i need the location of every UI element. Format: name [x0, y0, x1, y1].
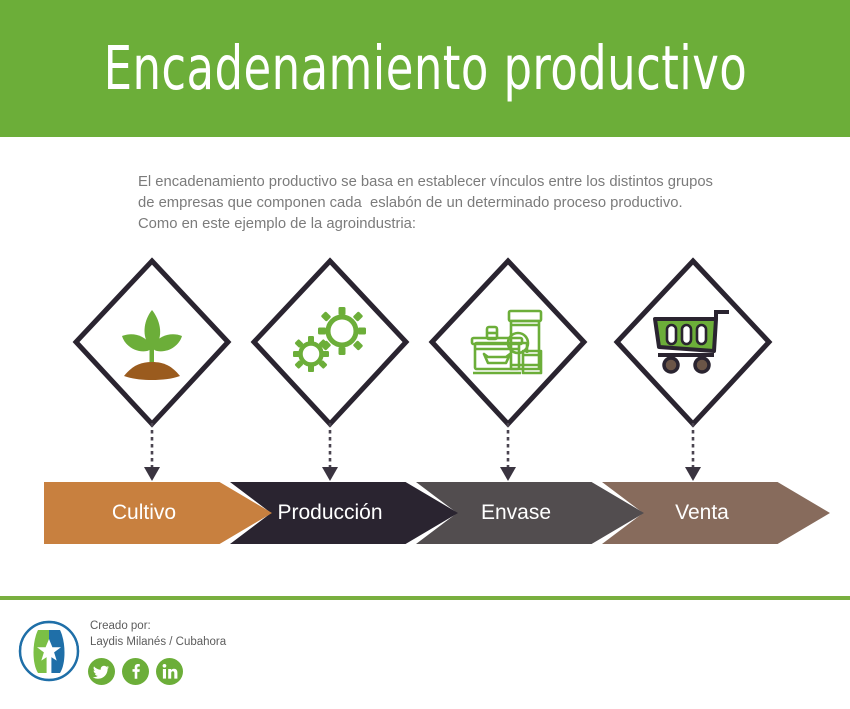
header-banner: Encadenamiento productivo [0, 0, 850, 137]
intro-paragraph: El encadenamiento productivo se basa en … [138, 172, 758, 235]
linkedin-icon[interactable] [156, 658, 183, 685]
credit-line-2: Laydis Milanés / Cubahora [90, 634, 226, 650]
footer: Creado por: Laydis Milanés / Cubahora [18, 618, 418, 694]
facebook-icon[interactable] [122, 658, 149, 685]
connector-arrow-down [603, 423, 783, 485]
social-links [88, 658, 183, 685]
process-node-cultivo[interactable] [62, 255, 242, 485]
shopping-cart-icon [603, 299, 783, 387]
cubahora-logo [18, 620, 80, 682]
connector-arrow-down [240, 423, 420, 485]
twitter-icon[interactable] [88, 658, 115, 685]
gears-icon [240, 299, 420, 387]
process-chevron-bar: Cultivo Producción Envase Venta [44, 482, 804, 544]
process-node-envase[interactable] [418, 255, 598, 485]
process-node-produccion[interactable] [240, 255, 420, 485]
process-node-row [0, 255, 850, 485]
intro-line-3: Como en este ejemplo de la agroindustria… [138, 214, 758, 235]
intro-line-1: El encadenamiento productivo se basa en … [138, 172, 758, 193]
intro-line-2: de empresas que componen cada eslabón de… [138, 193, 758, 214]
credit-line-1: Creado por: [90, 618, 226, 634]
footer-divider [0, 596, 850, 600]
process-node-venta[interactable] [603, 255, 783, 485]
chevron-shape [44, 482, 272, 544]
credit-block: Creado por: Laydis Milanés / Cubahora [90, 618, 226, 650]
connector-arrow-down [62, 423, 242, 485]
connector-arrow-down [418, 423, 598, 485]
canned-goods-icon [418, 299, 598, 387]
chevron-cultivo[interactable]: Cultivo [44, 482, 272, 544]
seedling-plant-icon [62, 299, 242, 387]
page-title: Encadenamiento productivo [103, 38, 747, 99]
